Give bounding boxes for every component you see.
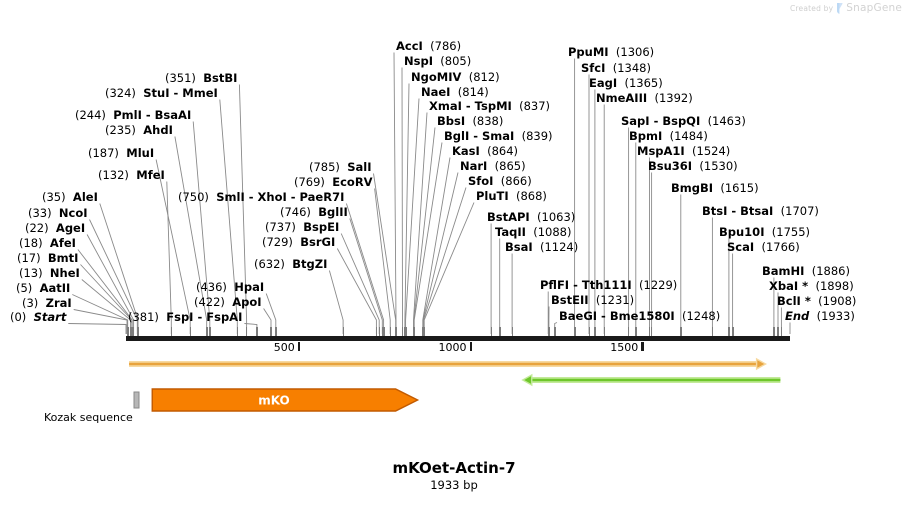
leader-line <box>329 271 343 335</box>
cut-site-tick <box>491 327 492 336</box>
cut-site-tick <box>256 327 257 336</box>
enzyme-site-label-btsi-btsai: BtsI - BtsaI (1707) <box>702 206 819 218</box>
enzyme-site-label-sfci: SfcI (1348) <box>581 63 651 75</box>
leader-line <box>414 113 428 335</box>
enzyme-site-label-zrai: (3) ZraI <box>22 298 72 310</box>
enzyme-site-label-agei: (22) AgeI <box>25 223 85 235</box>
cut-site-tick <box>395 327 396 336</box>
cut-site-tick <box>376 327 377 336</box>
enzyme-site-label-end: End (1933) <box>785 311 855 323</box>
cut-site-tick <box>343 327 344 336</box>
enzyme-site-label-start: (0) Start <box>10 312 66 324</box>
enzyme-site-label-xbai: XbaI * (1898) <box>769 281 854 293</box>
cut-site-tick <box>728 327 729 336</box>
map-length-label: 1933 bp <box>0 478 908 492</box>
enzyme-site-label-xmai-tspmi: XmaI - TspMI (837) <box>429 101 550 113</box>
enzyme-site-label-kasi: KasI (864) <box>452 146 518 158</box>
kozak-sequence-box <box>134 392 139 408</box>
cut-site-tick <box>548 327 549 336</box>
cut-site-tick <box>133 327 134 336</box>
cut-site-tick <box>237 327 238 336</box>
cut-site-tick <box>138 327 139 336</box>
enzyme-site-label-nhei: (13) NheI <box>19 268 80 280</box>
kozak-sequence-label: Kozak sequence <box>44 411 133 424</box>
enzyme-site-label-apoi: (422) ApoI <box>194 297 262 309</box>
enzyme-site-label-ecorv: (769) EcoRV <box>294 177 373 189</box>
enzyme-site-label-nmeaiii: NmeAIII (1392) <box>596 93 693 105</box>
cut-site-tick <box>171 327 172 336</box>
cut-site-tick <box>499 327 500 336</box>
enzyme-site-label-stui-mmei: (324) StuI - MmeI <box>105 88 218 100</box>
cut-site-tick <box>554 327 555 336</box>
enzyme-site-label-pluti: PluTI (868) <box>476 191 547 203</box>
enzyme-site-label-pflfi-tth111i: PflFI - Tth111I (1229) <box>540 280 677 292</box>
enzyme-site-label-ncoi: (33) NcoI <box>28 208 88 220</box>
cut-site-tick <box>209 327 210 336</box>
enzyme-site-label-ppumi: PpuMI (1306) <box>568 47 654 59</box>
cut-site-tick <box>414 327 415 336</box>
leader-line <box>68 324 126 335</box>
cut-site-tick <box>383 327 384 336</box>
cut-site-tick <box>773 327 774 336</box>
cut-site-tick <box>680 327 681 336</box>
cut-site-tick <box>127 327 128 336</box>
cut-site-tick <box>206 327 207 336</box>
enzyme-site-label-naei: NaeI (814) <box>421 87 489 99</box>
enzyme-site-label-bpmi: BpmI (1484) <box>629 131 708 143</box>
cut-site-tick <box>651 327 652 336</box>
leader-line <box>375 189 391 335</box>
leader-line <box>424 188 467 335</box>
cut-site-tick <box>424 327 425 336</box>
cut-site-tick <box>390 327 391 336</box>
enzyme-site-label-alei: (35) AleI <box>42 192 98 204</box>
enzyme-site-label-mspa1i: MspA1I (1524) <box>637 146 730 158</box>
enzyme-site-label-scai: ScaI (1766) <box>727 242 800 254</box>
enzyme-site-label-smli-xhoi-paer7i: (750) SmlI - XhoI - PaeR7I <box>178 192 344 204</box>
cut-site-tick <box>604 327 605 336</box>
cut-site-tick <box>594 327 595 336</box>
enzyme-site-label-hpai: (436) HpaI <box>196 282 264 294</box>
enzyme-site-label-bamhi: BamHI (1886) <box>762 266 850 278</box>
enzyme-site-label-aatii: (5) AatII <box>16 283 70 295</box>
sequence-map: Created by SnapGene (0) Start(3) ZraI(5)… <box>0 0 908 499</box>
enzyme-site-label-btgzi: (632) BtgZI <box>254 259 327 271</box>
cut-site-tick <box>777 327 778 336</box>
cut-site-tick <box>275 327 276 336</box>
enzyme-site-label-bmgbi: BmgBI (1615) <box>671 183 759 195</box>
enzyme-site-label-sapi-bspqi: SapI - BspQI (1463) <box>621 116 746 128</box>
enzyme-site-label-bmti: (17) BmtI <box>17 253 78 265</box>
leader-line <box>82 280 131 335</box>
enzyme-site-label-bspei: (737) BspEI <box>265 222 339 234</box>
orange-range-arrow-head <box>757 359 766 369</box>
cut-site-tick <box>635 327 636 336</box>
leader-line <box>156 160 190 335</box>
leader-line <box>423 158 450 335</box>
enzyme-site-label-bstbi: (351) BstBI <box>165 73 237 85</box>
leader-line <box>374 174 396 335</box>
enzyme-site-label-mfei: (132) MfeI <box>98 170 165 182</box>
enzyme-site-label-baegi-bme1580i: BaeGI - Bme1580I (1248) <box>559 311 720 323</box>
enzyme-site-label-mlui: (187) MluI <box>88 148 154 160</box>
ruler-tick-1000 <box>470 342 472 351</box>
leader-line <box>341 234 379 335</box>
enzyme-site-label-bgli-smai: BglI - SmaI (839) <box>444 131 553 143</box>
enzyme-site-label-acci: AccI (786) <box>396 41 461 53</box>
enzyme-site-label-bglii: (746) BglII <box>280 207 348 219</box>
cut-site-tick <box>405 327 406 336</box>
cut-site-tick <box>732 327 733 336</box>
cut-site-tick <box>574 327 575 336</box>
enzyme-site-label-sali: (785) SalI <box>309 162 372 174</box>
enzyme-site-label-nspi: NspI (805) <box>404 56 471 68</box>
cut-site-tick <box>781 327 782 336</box>
enzyme-site-label-bsu36i: Bsu36I (1530) <box>648 161 738 173</box>
leader-line <box>346 204 383 335</box>
cut-site-tick <box>628 327 629 336</box>
enzyme-site-label-afei: (18) AfeI <box>19 238 76 250</box>
enzyme-site-label-nari: NarI (865) <box>460 161 526 173</box>
enzyme-site-label-eagi: EagI (1365) <box>589 78 663 90</box>
enzyme-site-label-bsrgi: (729) BsrGI <box>262 237 335 249</box>
enzyme-site-label-bsai: BsaI (1124) <box>505 242 578 254</box>
leader-line <box>406 99 419 335</box>
leader-line <box>402 68 403 335</box>
enzyme-site-label-taqii: TaqII (1088) <box>495 227 571 239</box>
map-title: mKOet-Actin-7 <box>0 459 908 477</box>
cut-site-tick <box>712 327 713 336</box>
ruler-tick-500 <box>298 342 300 351</box>
cut-site-tick <box>512 327 513 336</box>
enzyme-site-label-bpu10i: Bpu10I (1755) <box>719 227 810 239</box>
enzyme-site-label-fspi-fspai: (381) FspI - FspAI <box>128 312 242 324</box>
enzyme-site-label-bstapi: BstAPI (1063) <box>487 212 575 224</box>
cut-site-tick <box>270 327 271 336</box>
cut-site-tick <box>402 327 403 336</box>
leader-line <box>394 53 396 335</box>
mko-feature-label: mKO <box>258 394 289 408</box>
leader-line <box>74 310 127 335</box>
enzyme-site-label-bsteii: BstEII (1231) <box>551 295 634 307</box>
cut-site-tick <box>379 327 380 336</box>
enzyme-site-label-bcli: BclI * (1908) <box>777 296 856 308</box>
green-range-arrow-head <box>523 375 532 385</box>
enzyme-site-label-ngomiv: NgoMIV (812) <box>411 72 500 84</box>
enzyme-site-label-pmli-bsaai: (244) PmlI - BsaAI <box>75 110 191 122</box>
enzyme-site-label-bbsi: BbsI (838) <box>437 116 503 128</box>
cut-site-tick <box>246 327 247 336</box>
ruler-tick-1500 <box>641 342 643 351</box>
enzyme-site-label-sfoi: SfoI (866) <box>468 176 532 188</box>
cut-site-tick <box>589 327 590 336</box>
cut-site-tick <box>190 327 191 336</box>
enzyme-site-label-ahdi: (235) AhdI <box>105 125 173 137</box>
